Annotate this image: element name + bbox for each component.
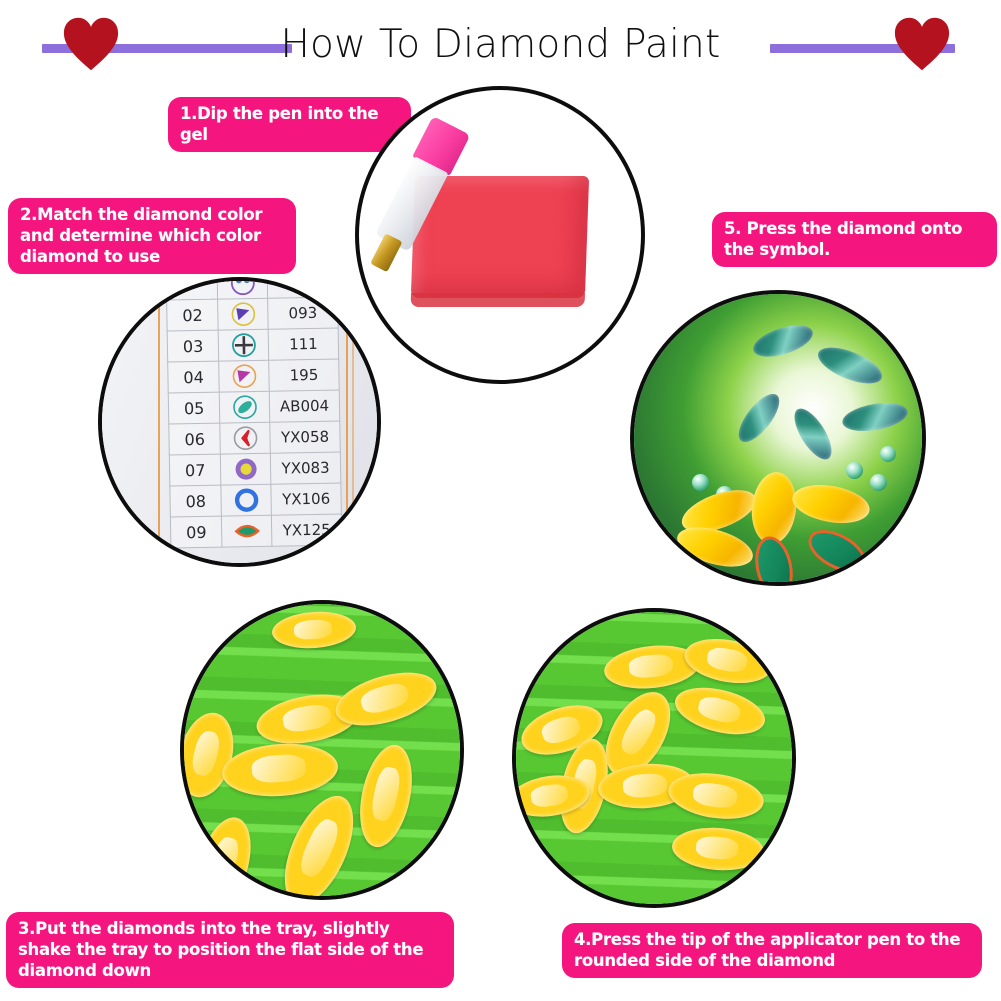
chart-row: 020	[166, 281, 338, 300]
chart-row-code: YX083	[270, 452, 340, 484]
chart-row-code: 020	[267, 281, 337, 298]
chart-row: 07 YX083	[169, 452, 341, 486]
chart-row-index: 04	[168, 361, 220, 393]
tray-diamond	[665, 768, 766, 825]
chart-row-symbol-ring-icon	[221, 484, 271, 516]
canvas-yellow-gem	[789, 480, 872, 529]
chart-row-index: 09	[170, 516, 222, 548]
canvas-gem	[732, 388, 787, 448]
canvas-gem	[840, 398, 910, 435]
chart-row-index: 02	[167, 299, 219, 331]
pen-barrel	[516, 612, 545, 689]
chart-row-index: 05	[168, 392, 220, 424]
canvas-green-leaf	[750, 533, 798, 582]
page-title: How To Diamond Paint	[0, 18, 1001, 72]
chart-row: 02 093	[167, 297, 339, 331]
tray-diamond	[681, 633, 775, 690]
chart-row-code: YX125	[271, 514, 341, 546]
tray-diamond	[670, 679, 769, 742]
photo-inner	[359, 90, 641, 380]
chart-row-code: YX058	[270, 421, 340, 453]
canvas-gem	[846, 462, 863, 479]
step-3-label: 3.Put the diamonds into the tray, slight…	[6, 912, 454, 988]
chart-row: 04 195	[168, 359, 340, 393]
chart-row-code: AB004	[269, 390, 339, 422]
chart-row-symbol-marquise-icon	[222, 515, 272, 547]
canvas-yellow-gem	[748, 470, 799, 546]
page-header: How To Diamond Paint	[0, 0, 1001, 86]
step-5-label: 5. Press the diamond onto the symbol.	[712, 212, 997, 267]
tray-diamond	[188, 811, 261, 896]
symbol-legend-table: 02002 09303 11104 19505 AB00406 YX05807 …	[166, 281, 343, 548]
canvas-gem	[813, 340, 886, 391]
chart-row-symbol-arrow-left-icon	[220, 422, 270, 454]
tray-diamond	[271, 609, 357, 651]
chart-row-symbol-plus-icon	[218, 329, 268, 361]
photo-inner	[634, 294, 922, 582]
chart-row-index: 07	[169, 454, 221, 486]
tray-diamond	[220, 740, 339, 800]
photo-inner: 02002 09303 11104 19505 AB00406 YX05807 …	[102, 281, 377, 563]
photo-inner	[184, 604, 460, 896]
step-2-photo-symbol-chart: 02002 09303 11104 19505 AB00406 YX05807 …	[98, 277, 381, 567]
chart-row-symbol-triangle-icon	[218, 298, 268, 330]
step-2-label: 2.Match the diamond color and determine …	[8, 198, 296, 274]
chart-row: 03 111	[167, 328, 339, 362]
pen-tip-ferrule	[370, 233, 402, 272]
chart-row-symbol-ellipse-icon	[220, 391, 270, 423]
chart-margin-line	[158, 281, 160, 563]
chart-row-index	[166, 281, 218, 300]
chart-row: 05 AB004	[168, 390, 340, 424]
canvas-gem	[692, 474, 709, 491]
chart-row-code: 093	[268, 297, 338, 329]
tray-diamond	[184, 707, 242, 803]
chart-row-index: 03	[167, 330, 219, 362]
chart-row-symbol-dot-ring-icon	[221, 453, 271, 485]
canvas-gem	[870, 474, 887, 491]
chart-row: 08YX106	[170, 483, 342, 517]
chart-row-code: YX106	[271, 483, 341, 515]
canvas-green-leaf	[802, 521, 873, 580]
chart-row-index: 06	[169, 423, 221, 455]
chart-row-code: 195	[269, 359, 339, 391]
step-4-label: 4.Press the tip of the applicator pen to…	[562, 923, 982, 978]
tray-diamond	[352, 740, 421, 852]
chart-row-index: 08	[170, 485, 222, 517]
step-3-photo-diamonds-in-tray	[180, 600, 464, 900]
photo-inner	[516, 612, 792, 904]
chart-row-symbol-double-dot-circle-icon	[217, 281, 267, 299]
chart-row: 09YX125	[170, 514, 342, 548]
chart-margin-line	[352, 281, 354, 563]
step-1-photo-pen-dipping-into-gel	[355, 86, 645, 384]
chart-row: 06 YX058	[169, 421, 341, 455]
canvas-gem	[787, 403, 838, 465]
tray-diamond	[671, 825, 766, 873]
chart-row-symbol-triangle-icon	[219, 360, 269, 392]
chart-row-code: 111	[268, 328, 338, 360]
step-5-photo-placing-diamond-on-canvas	[630, 290, 926, 586]
canvas-gem	[750, 319, 817, 363]
canvas-gem	[880, 446, 896, 462]
chart-margin-line	[346, 281, 348, 563]
tray-diamond	[271, 786, 368, 896]
step-4-photo-pen-picking-diamond	[512, 608, 796, 908]
